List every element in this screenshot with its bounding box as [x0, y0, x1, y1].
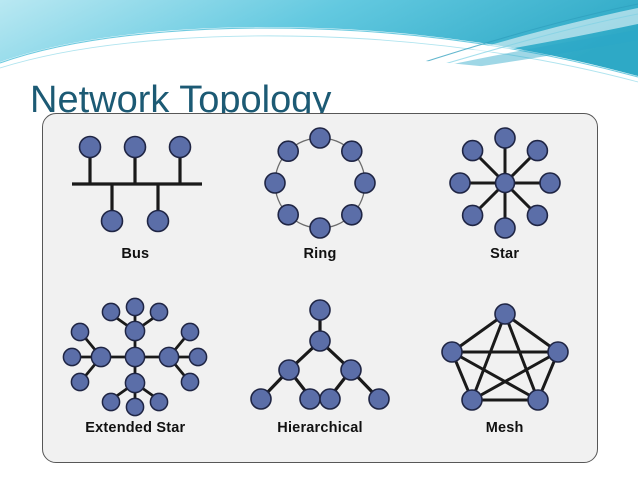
extended-star-hub-node — [160, 347, 179, 366]
extended-star-leaf-node — [151, 393, 168, 410]
extended-star-leaf-node — [127, 398, 144, 415]
extended-star-hub-node — [126, 321, 145, 340]
topology-cell-hierarchical: Hierarchical — [228, 288, 413, 462]
ring-node — [310, 128, 330, 148]
extended-star-leaf-node — [151, 303, 168, 320]
extended-star-leaf-node — [190, 348, 207, 365]
ring-node — [342, 141, 362, 161]
extended-star-hub-node — [92, 347, 111, 366]
extended-star-hub-node — [126, 373, 145, 392]
ring-node — [355, 173, 375, 193]
mesh-node — [462, 390, 482, 410]
hierarchical-node — [310, 331, 330, 351]
star-topology-diagram — [430, 122, 580, 244]
extended-star-leaf-node — [64, 348, 81, 365]
mesh-node — [442, 342, 462, 362]
topology-label-extended-star: Extended Star — [85, 420, 185, 436]
ring-node — [278, 205, 298, 225]
hierarchical-leaf-node — [369, 389, 389, 409]
ring-topology-diagram — [245, 122, 395, 244]
mesh-node — [495, 304, 515, 324]
extended-star-center-node — [126, 347, 145, 366]
ring-node — [342, 205, 362, 225]
topology-label-star: Star — [490, 246, 519, 262]
bus-node — [125, 137, 146, 158]
ring-node — [310, 218, 330, 238]
mesh-node — [548, 342, 568, 362]
topology-cell-mesh: Mesh — [412, 288, 597, 462]
topology-cell-bus: Bus — [43, 114, 228, 288]
bus-node — [148, 211, 169, 232]
extended-star-leaf-node — [103, 303, 120, 320]
extended-star-leaf-node — [182, 373, 199, 390]
topology-grid: Bus Ring — [43, 114, 597, 462]
hierarchical-leaf-node — [300, 389, 320, 409]
topology-label-bus: Bus — [121, 246, 149, 262]
topology-label-hierarchical: Hierarchical — [277, 420, 362, 436]
topology-cell-extended-star: Extended Star — [43, 288, 228, 462]
ring-node — [265, 173, 285, 193]
topology-label-ring: Ring — [303, 246, 336, 262]
star-node — [462, 205, 482, 225]
ring-node — [278, 141, 298, 161]
star-node — [495, 128, 515, 148]
hierarchical-root-node — [310, 300, 330, 320]
star-node — [495, 218, 515, 238]
hierarchical-leaf-node — [320, 389, 340, 409]
extended-star-leaf-node — [72, 323, 89, 340]
extended-star-leaf-node — [127, 298, 144, 315]
star-node — [450, 173, 470, 193]
topology-diagram-card: Bus Ring — [42, 113, 598, 463]
extended-star-topology-diagram — [60, 296, 210, 418]
topology-cell-star: Star — [412, 114, 597, 288]
bus-node — [170, 137, 191, 158]
star-node — [527, 205, 547, 225]
hierarchical-topology-diagram — [245, 296, 395, 418]
star-node — [527, 141, 547, 161]
bus-topology-diagram — [60, 122, 210, 244]
topology-label-mesh: Mesh — [486, 420, 524, 436]
mesh-topology-diagram — [430, 296, 580, 418]
star-center-node — [495, 174, 514, 193]
hierarchical-node — [279, 360, 299, 380]
hierarchical-leaf-node — [251, 389, 271, 409]
star-node — [540, 173, 560, 193]
mesh-node — [528, 390, 548, 410]
topology-cell-ring: Ring — [228, 114, 413, 288]
star-node — [462, 141, 482, 161]
extended-star-leaf-node — [72, 373, 89, 390]
bus-node — [102, 211, 123, 232]
extended-star-leaf-node — [182, 323, 199, 340]
hierarchical-node — [341, 360, 361, 380]
extended-star-leaf-node — [103, 393, 120, 410]
bus-node — [80, 137, 101, 158]
